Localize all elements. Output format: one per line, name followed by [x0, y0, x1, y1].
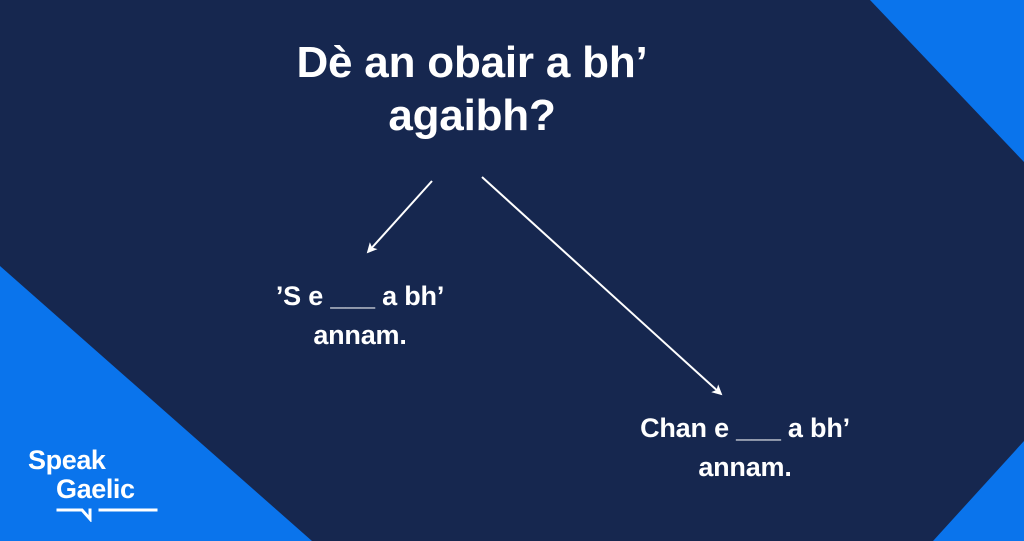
answer-left-line-1: ’S e ___ a bh’	[276, 281, 444, 311]
arrow-to-left-answer	[368, 181, 432, 252]
slide-canvas: Dè an obair a bh’ agaibh? ’S e ___ a bh’…	[0, 0, 1024, 541]
slide-title: Dè an obair a bh’ agaibh?	[172, 36, 772, 142]
speech-bubble-underline-icon	[56, 508, 160, 522]
answer-option-affirmative: ’S e ___ a bh’ annam.	[175, 277, 545, 355]
speakgaelic-logo: Speak Gaelic	[28, 446, 188, 526]
answer-left-line-2: annam.	[313, 320, 406, 350]
logo-word-speak: Speak	[28, 446, 188, 475]
title-line-2: agaibh?	[388, 91, 555, 140]
answer-right-line-1: Chan e ___ a bh’	[640, 413, 850, 443]
title-line-1: Dè an obair a bh’	[296, 38, 647, 87]
logo-word-gaelic: Gaelic	[56, 475, 188, 504]
answer-option-negative: Chan e ___ a bh’ annam.	[545, 409, 945, 487]
answer-right-line-2: annam.	[698, 452, 791, 482]
